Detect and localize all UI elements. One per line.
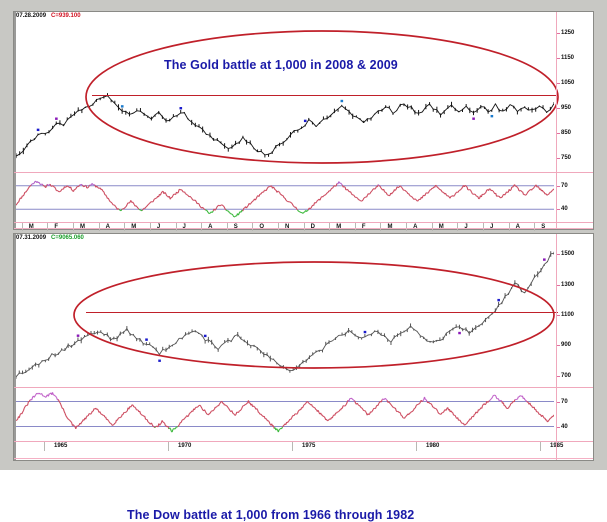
dow-indicator-pane[interactable] bbox=[16, 389, 554, 439]
axis-tick-mark bbox=[557, 427, 560, 428]
x-axis-label: M bbox=[387, 224, 392, 230]
axis-tick-mark bbox=[557, 254, 560, 255]
axis-tick-mark bbox=[557, 285, 560, 286]
axis-tick-mark bbox=[557, 345, 560, 346]
x-axis-separator bbox=[457, 223, 458, 231]
x-axis-label: A bbox=[208, 224, 212, 230]
x-axis-separator bbox=[168, 442, 169, 451]
x-axis-separator bbox=[406, 223, 407, 231]
x-axis-separator bbox=[540, 442, 541, 451]
x-axis-label: 1975 bbox=[302, 443, 315, 449]
x-axis-separator bbox=[329, 223, 330, 231]
gold-bottom-strip bbox=[14, 228, 593, 229]
axis-tick-label: 1050 bbox=[561, 80, 574, 86]
axis-tick-label: 700 bbox=[561, 373, 571, 379]
x-axis-separator bbox=[380, 223, 381, 231]
gold-indicator-pane[interactable] bbox=[16, 174, 554, 221]
x-axis-separator bbox=[99, 223, 100, 231]
x-axis-separator bbox=[534, 223, 535, 231]
dow-pane-divider bbox=[14, 387, 593, 388]
x-axis-label: F bbox=[54, 224, 58, 230]
gold-annotation-text: The Gold battle at 1,000 in 2008 & 2009 bbox=[164, 58, 398, 72]
axis-tick-label: 40 bbox=[561, 206, 568, 212]
axis-tick-label: 1300 bbox=[561, 282, 574, 288]
axis-tick-mark bbox=[557, 186, 560, 187]
x-axis-label: D bbox=[311, 224, 315, 230]
axis-tick-label: 1150 bbox=[561, 55, 574, 61]
x-axis-label: M bbox=[131, 224, 136, 230]
x-axis-separator bbox=[47, 223, 48, 231]
axis-tick-label: 1100 bbox=[561, 312, 574, 318]
x-axis-label: 1970 bbox=[178, 443, 191, 449]
axis-tick-label: 40 bbox=[561, 424, 568, 430]
x-axis-separator bbox=[509, 223, 510, 231]
x-axis-label: F bbox=[362, 224, 366, 230]
x-axis-separator bbox=[22, 223, 23, 231]
axis-tick-label: 950 bbox=[561, 105, 571, 111]
x-axis-label: S bbox=[541, 224, 545, 230]
x-axis-label: M bbox=[336, 224, 341, 230]
x-axis-label: M bbox=[29, 224, 34, 230]
x-axis-separator bbox=[416, 442, 417, 451]
axis-tick-mark bbox=[557, 133, 560, 134]
screenshot-root: 07.28.2009C=939.100 The Gold battle at 1… bbox=[0, 0, 607, 470]
dow-x-axis bbox=[14, 441, 593, 442]
axis-tick-mark bbox=[557, 83, 560, 84]
x-axis-separator bbox=[201, 223, 202, 231]
axis-tick-label: 70 bbox=[561, 399, 568, 405]
x-axis-label: S bbox=[234, 224, 238, 230]
x-axis-label: A bbox=[106, 224, 110, 230]
dow-bottom-strip bbox=[14, 458, 593, 459]
gold-indicator-plot bbox=[16, 174, 554, 221]
x-axis-separator bbox=[278, 223, 279, 231]
x-axis-separator bbox=[150, 223, 151, 231]
x-axis-separator bbox=[355, 223, 356, 231]
axis-tick-label: 70 bbox=[561, 183, 568, 189]
x-axis-label: J bbox=[157, 224, 160, 230]
x-axis-label: J bbox=[490, 224, 493, 230]
axis-tick-mark bbox=[557, 402, 560, 403]
gold-price-axis bbox=[556, 12, 557, 229]
dow-annotation-text: The Dow battle at 1,000 from 1966 throug… bbox=[127, 508, 414, 522]
x-axis-separator bbox=[292, 442, 293, 451]
x-axis-label: J bbox=[464, 224, 467, 230]
axis-tick-label: 1500 bbox=[561, 251, 574, 257]
x-axis-separator bbox=[304, 223, 305, 231]
x-axis-separator bbox=[483, 223, 484, 231]
x-axis-separator bbox=[73, 223, 74, 231]
dow-chart-window[interactable]: 07.31.2009C=9065.060 The Dow battle at 1… bbox=[13, 233, 594, 461]
x-axis-label: M bbox=[80, 224, 85, 230]
axis-tick-mark bbox=[557, 158, 560, 159]
x-axis-separator bbox=[176, 223, 177, 231]
x-axis-label: N bbox=[285, 224, 289, 230]
axis-tick-mark bbox=[557, 376, 560, 377]
axis-tick-label: 750 bbox=[561, 155, 571, 161]
gold-chart-window[interactable]: 07.28.2009C=939.100 The Gold battle at 1… bbox=[13, 11, 594, 230]
gold-pane-divider bbox=[14, 172, 593, 173]
axis-tick-label: 1250 bbox=[561, 30, 574, 36]
x-axis-label: M bbox=[439, 224, 444, 230]
axis-tick-mark bbox=[557, 108, 560, 109]
x-axis-label: 1980 bbox=[426, 443, 439, 449]
axis-tick-mark bbox=[557, 33, 560, 34]
x-axis-label: O bbox=[259, 224, 264, 230]
axis-tick-mark bbox=[557, 315, 560, 316]
x-axis-separator bbox=[432, 223, 433, 231]
axis-tick-label: 850 bbox=[561, 130, 571, 136]
axis-tick-mark bbox=[557, 209, 560, 210]
x-axis-label: A bbox=[516, 224, 520, 230]
axis-tick-mark bbox=[557, 58, 560, 59]
x-axis-label: 1965 bbox=[54, 443, 67, 449]
x-axis-separator bbox=[44, 442, 45, 451]
x-axis-separator bbox=[252, 223, 253, 231]
x-axis-label: A bbox=[413, 224, 417, 230]
x-axis-separator bbox=[227, 223, 228, 231]
dow-indicator-plot bbox=[16, 389, 554, 439]
x-axis-separator bbox=[124, 223, 125, 231]
x-axis-label: J bbox=[183, 224, 186, 230]
axis-tick-label: 900 bbox=[561, 342, 571, 348]
